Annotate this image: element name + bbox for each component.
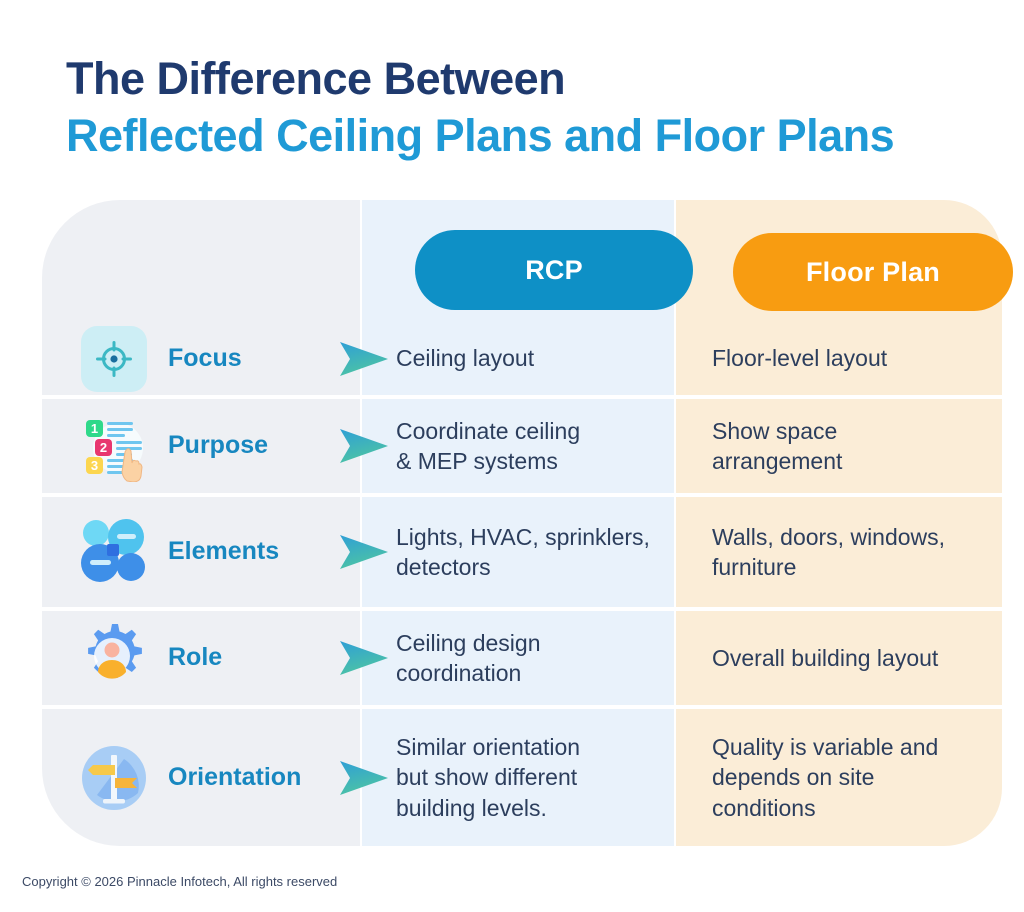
- title-line-1: The Difference Between: [66, 52, 894, 105]
- floorplan-header-pill: Floor Plan: [733, 233, 1013, 311]
- table-row: Role Ceiling design coordination Overall…: [42, 611, 1002, 705]
- row-label-elements: Elements: [42, 497, 360, 607]
- row-label-purpose: 1 2 3: [42, 399, 360, 493]
- row-label-orientation: Orientation: [42, 709, 360, 846]
- gear-person-icon: [78, 622, 150, 694]
- infographic-page: The Difference Between Reflected Ceiling…: [0, 0, 1024, 912]
- floorplan-cell: Show space arrangement: [676, 399, 1002, 493]
- row-label-text: Elements: [168, 538, 279, 566]
- rcp-header-pill: RCP: [415, 230, 693, 310]
- rcp-cell: Lights, HVAC, sprinklers, detectors: [362, 497, 674, 607]
- rcp-header-label: RCP: [525, 255, 583, 286]
- floorplan-cell: Quality is variable and depends on site …: [676, 709, 1002, 846]
- svg-text:3: 3: [91, 458, 98, 473]
- row-label-text: Orientation: [168, 764, 301, 792]
- svg-text:1: 1: [91, 421, 98, 436]
- numbered-list-hand-icon: 1 2 3: [78, 410, 150, 482]
- floorplan-header-label: Floor Plan: [806, 257, 940, 288]
- puzzle-cluster-icon: [78, 516, 150, 588]
- signpost-icon: [78, 742, 150, 814]
- row-label-text: Focus: [168, 345, 242, 373]
- rcp-cell: Similar orientation but show different b…: [362, 709, 674, 846]
- svg-text:2: 2: [100, 440, 107, 455]
- page-title: The Difference Between Reflected Ceiling…: [66, 52, 894, 162]
- comparison-table: RCP Floor Plan: [42, 200, 1002, 846]
- copyright-footer: Copyright © 2026 Pinnacle Infotech, All …: [22, 874, 337, 889]
- row-label-focus: Focus: [42, 322, 360, 395]
- floorplan-cell: Floor-level layout: [676, 322, 1002, 395]
- rcp-cell: Ceiling layout: [362, 322, 674, 395]
- table-row: 1 2 3: [42, 399, 1002, 493]
- row-label-role: Role: [42, 611, 360, 705]
- table-row: Focus Ceiling layout Floor-level layout: [42, 322, 1002, 395]
- rcp-cell: Ceiling design coordination: [362, 611, 674, 705]
- row-label-text: Purpose: [168, 432, 268, 460]
- floorplan-cell: Overall building layout: [676, 611, 1002, 705]
- table-row: Elements Lights, HVAC, sprinklers, detec…: [42, 497, 1002, 607]
- rcp-cell: Coordinate ceiling & MEP systems: [362, 399, 674, 493]
- title-line-2: Reflected Ceiling Plans and Floor Plans: [66, 109, 894, 162]
- table-row: Orientation Similar orientation but show…: [42, 709, 1002, 846]
- target-icon: [78, 323, 150, 395]
- floorplan-cell: Walls, doors, windows, furniture: [676, 497, 1002, 607]
- row-label-text: Role: [168, 644, 222, 672]
